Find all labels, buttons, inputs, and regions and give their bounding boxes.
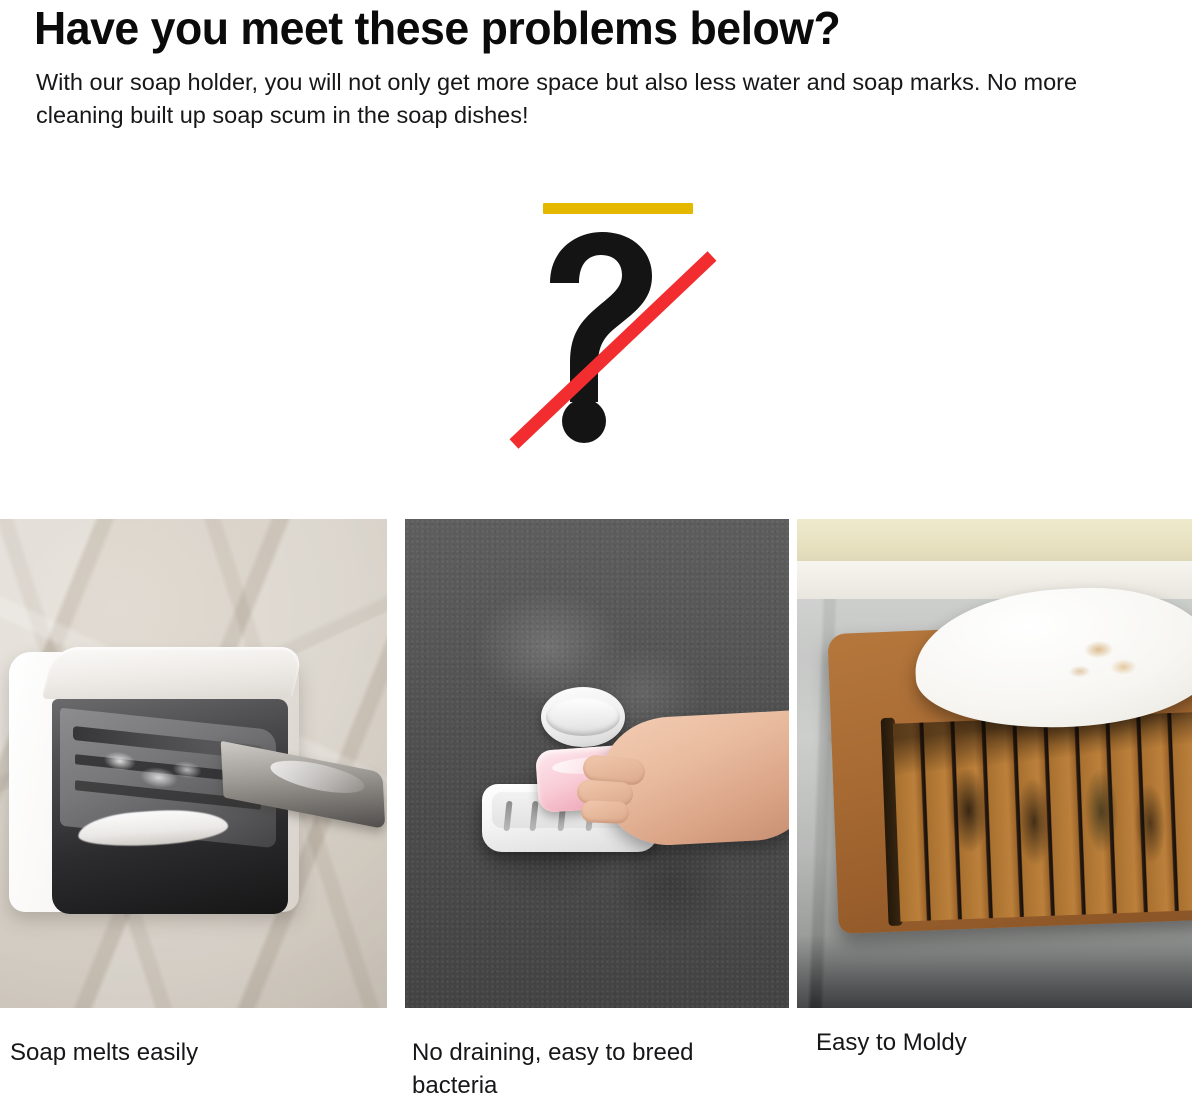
finger bbox=[581, 800, 630, 824]
question-mark-emblem bbox=[478, 190, 738, 460]
page-title: Have you meet these problems below? bbox=[34, 2, 1140, 54]
soap-box-lid bbox=[42, 647, 305, 699]
caption-no-draining: No draining, easy to breed bacteria bbox=[412, 1036, 760, 1102]
photo-soap-melts bbox=[0, 519, 387, 1008]
wall-mount-disc bbox=[541, 687, 625, 747]
caption-soap-melts: Soap melts easily bbox=[10, 1036, 370, 1069]
page-subtitle: With our soap holder, you will not only … bbox=[36, 66, 1096, 132]
question-mark-dot bbox=[562, 399, 606, 443]
question-mark-icon bbox=[478, 190, 738, 460]
red-slash-icon bbox=[514, 256, 712, 444]
photo-no-draining bbox=[405, 519, 789, 1008]
caption-easy-moldy: Easy to Moldy bbox=[816, 1026, 1156, 1059]
photo-easy-moldy bbox=[797, 519, 1192, 1008]
moldy-slats bbox=[893, 712, 1192, 922]
problem-photo-strip bbox=[0, 519, 1192, 1008]
